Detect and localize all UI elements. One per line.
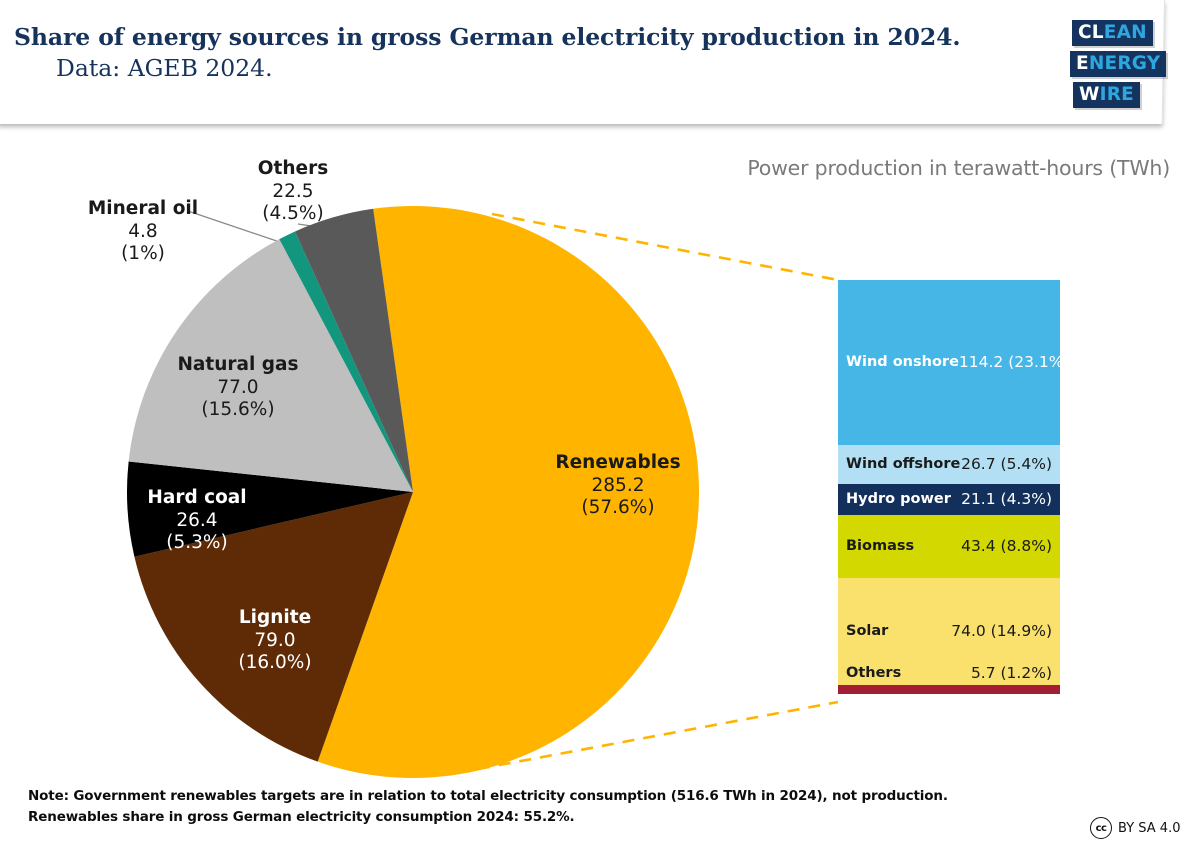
bar-value-wind-offshore: 26.7 (5.4%) [961,455,1052,473]
renewables-stacked-bar: Wind onshore114.2 (23.1%)Wind offshore26… [838,280,1060,694]
logo-wire-white: W [1079,84,1100,105]
pie-label-lignite: Lignite 79.0 (16.0%) [180,607,370,675]
title-line-2: Data: AGEB 2024. [14,53,1054,84]
pie-label-others-name: Others [198,158,388,181]
pie-label-mineral-oil-percent: (1%) [48,243,238,266]
pie-label-mineral-oil-value: 4.8 [48,221,238,244]
bar-value-solar: 74.0 (14.9%) [951,622,1052,640]
pie-label-hard-coal-name: Hard coal [117,487,277,510]
bar-value-hydro-power: 21.1 (4.3%) [961,490,1052,508]
page-title: Share of energy sources in gross German … [14,22,1054,84]
bar-label-biomass: Biomass [846,538,914,554]
header-content: Share of energy sources in gross German … [0,0,1200,128]
pie-label-natural-gas: Natural gas 77.0 (15.6%) [143,354,333,422]
pie-label-renewables: Renewables 285.2 (57.6%) [513,452,723,520]
logo-energy-accent: NERGY [1089,53,1161,74]
bar-value-others: 5.7 (1.2%) [971,664,1052,682]
pie-label-lignite-value: 79.0 [180,630,370,653]
bar-label-hydro-power: Hydro power [846,491,951,507]
bar-segment-hydro-power[interactable]: Hydro power21.1 (4.3%) [838,484,1060,515]
logo-wire-accent: IRE [1100,84,1134,105]
bar-segment-wind-offshore[interactable]: Wind offshore26.7 (5.4%) [838,445,1060,484]
logo-line-wire: WIRE [1073,82,1140,108]
logo-line-clean: CLEAN [1072,20,1153,46]
pie-label-lignite-percent: (16.0%) [180,652,370,675]
logo-line-energy: ENERGY [1070,51,1166,77]
bar-segment-wind-onshore[interactable]: Wind onshore114.2 (23.1%) [838,280,1060,445]
pie-label-mineral-oil: Mineral oil 4.8 (1%) [48,198,238,266]
footnote: Note: Government renewables targets are … [28,786,1028,828]
pie-label-natural-gas-name: Natural gas [143,354,333,377]
bar-segment-others[interactable]: Others5.7 (1.2%) [838,685,1060,694]
license-block[interactable]: cc BY SA 4.0 [1090,817,1180,839]
license-text: BY SA 4.0 [1118,821,1180,836]
bar-label-others: Others [846,665,901,681]
pie-label-mineral-oil-name: Mineral oil [48,198,238,221]
pie-label-renewables-percent: (57.6%) [513,497,723,520]
clean-energy-wire-logo[interactable]: CLEAN ENERGY WIRE [1070,20,1180,112]
pie-label-renewables-name: Renewables [513,452,723,475]
creative-commons-icon: cc [1090,817,1112,839]
bar-segment-biomass[interactable]: Biomass43.4 (8.8%) [838,515,1060,578]
pie-label-natural-gas-value: 77.0 [143,377,333,400]
bar-value-wind-onshore: 114.2 (23.1%) [959,353,1070,371]
bar-value-biomass: 43.4 (8.8%) [961,537,1052,555]
logo-clean-white: CL [1078,22,1104,43]
pie-label-lignite-name: Lignite [180,607,370,630]
pie-label-hard-coal-percent: (5.3%) [117,532,277,555]
infographic-root: Share of energy sources in gross German … [0,0,1200,848]
pie-label-natural-gas-percent: (15.6%) [143,399,333,422]
title-line-1: Share of energy sources in gross German … [14,22,1054,53]
pie-label-renewables-value: 285.2 [513,475,723,498]
bar-label-wind-offshore: Wind offshore [846,456,960,472]
logo-clean-accent: EAN [1104,22,1147,43]
pie-label-hard-coal-value: 26.4 [117,510,277,533]
bar-label-solar: Solar [846,623,888,639]
pie-label-hard-coal: Hard coal 26.4 (5.3%) [117,487,277,555]
bar-label-wind-onshore: Wind onshore [846,354,959,370]
logo-energy-white: E [1076,53,1089,74]
